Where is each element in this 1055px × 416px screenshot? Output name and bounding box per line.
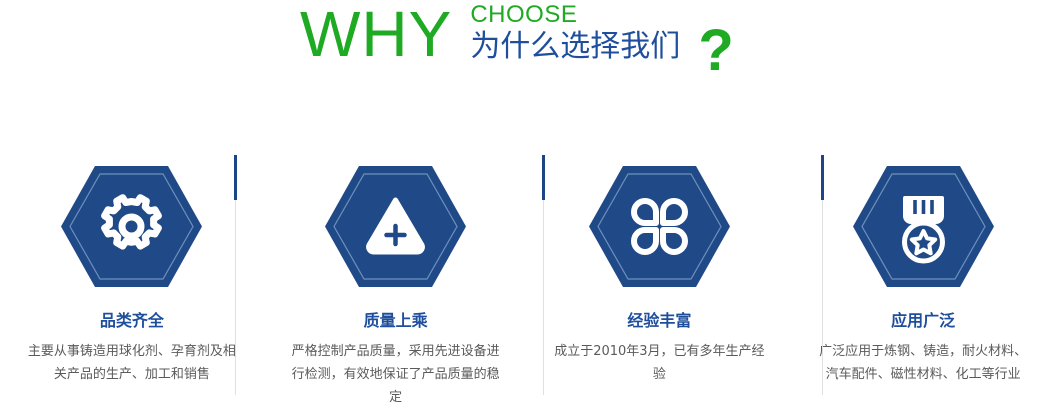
- column-divider-1: [234, 148, 237, 406]
- clover-icon: [587, 164, 732, 289]
- hexagon-badge-3: [587, 164, 732, 289]
- section-header: WHY CHOOSE 为什么选择我们 ?: [0, 0, 1055, 100]
- heading-chinese-title: 为什么选择我们: [470, 30, 680, 64]
- divider-line-2: [543, 200, 544, 395]
- heading-mid-block: CHOOSE 为什么选择我们: [470, 2, 680, 64]
- feature-body-1: 主要从事铸造用球化剂、孕育剂及相关产品的生产、加工和销售: [24, 340, 239, 386]
- feature-column-2: 质量上乘 严格控制产品质量，采用先进设备进行检测，有效地保证了产品质量的稳定: [264, 148, 528, 416]
- features-row: 品类齐全 主要从事铸造用球化剂、孕育剂及相关产品的生产、加工和销售 质量上乘 严…: [0, 148, 1055, 416]
- hexagon-badge-2: [323, 164, 468, 289]
- gear-icon: [59, 164, 204, 289]
- heading-why: WHY: [300, 2, 452, 66]
- divider-accent-2: [542, 155, 545, 200]
- column-divider-3: [821, 148, 824, 406]
- hexagon-badge-4: [851, 164, 996, 289]
- feature-title-2: 质量上乘: [364, 311, 428, 331]
- column-divider-2: [542, 148, 545, 406]
- divider-accent-3: [821, 155, 824, 200]
- triangle-plus-icon: [323, 164, 468, 289]
- divider-line-3: [822, 200, 823, 395]
- feature-column-1: 品类齐全 主要从事铸造用球化剂、孕育剂及相关产品的生产、加工和销售: [0, 148, 264, 416]
- feature-title-4: 应用广泛: [891, 311, 955, 331]
- feature-body-2: 严格控制产品质量，采用先进设备进行检测，有效地保证了产品质量的稳定: [288, 340, 503, 409]
- heading-question-mark: ?: [698, 22, 733, 80]
- hexagon-badge-1: [59, 164, 204, 289]
- divider-accent-1: [234, 155, 237, 200]
- feature-column-3: 经验丰富 成立于2010年3月，已有多年生产经验: [528, 148, 792, 416]
- why-choose-us-section: WHY CHOOSE 为什么选择我们 ? 品类齐全: [0, 0, 1055, 416]
- heading-choose: CHOOSE: [470, 2, 680, 28]
- feature-title-3: 经验丰富: [627, 311, 691, 331]
- divider-line-1: [235, 200, 236, 395]
- feature-column-4: 应用广泛 广泛应用于炼钢、铸造，耐火材料、汽车配件、磁性材料、化工等行业: [791, 148, 1055, 416]
- feature-title-1: 品类齐全: [100, 311, 164, 331]
- feature-body-3: 成立于2010年3月，已有多年生产经验: [552, 340, 767, 386]
- medal-icon: [851, 164, 996, 289]
- feature-body-4: 广泛应用于炼钢、铸造，耐火材料、汽车配件、磁性材料、化工等行业: [816, 340, 1031, 386]
